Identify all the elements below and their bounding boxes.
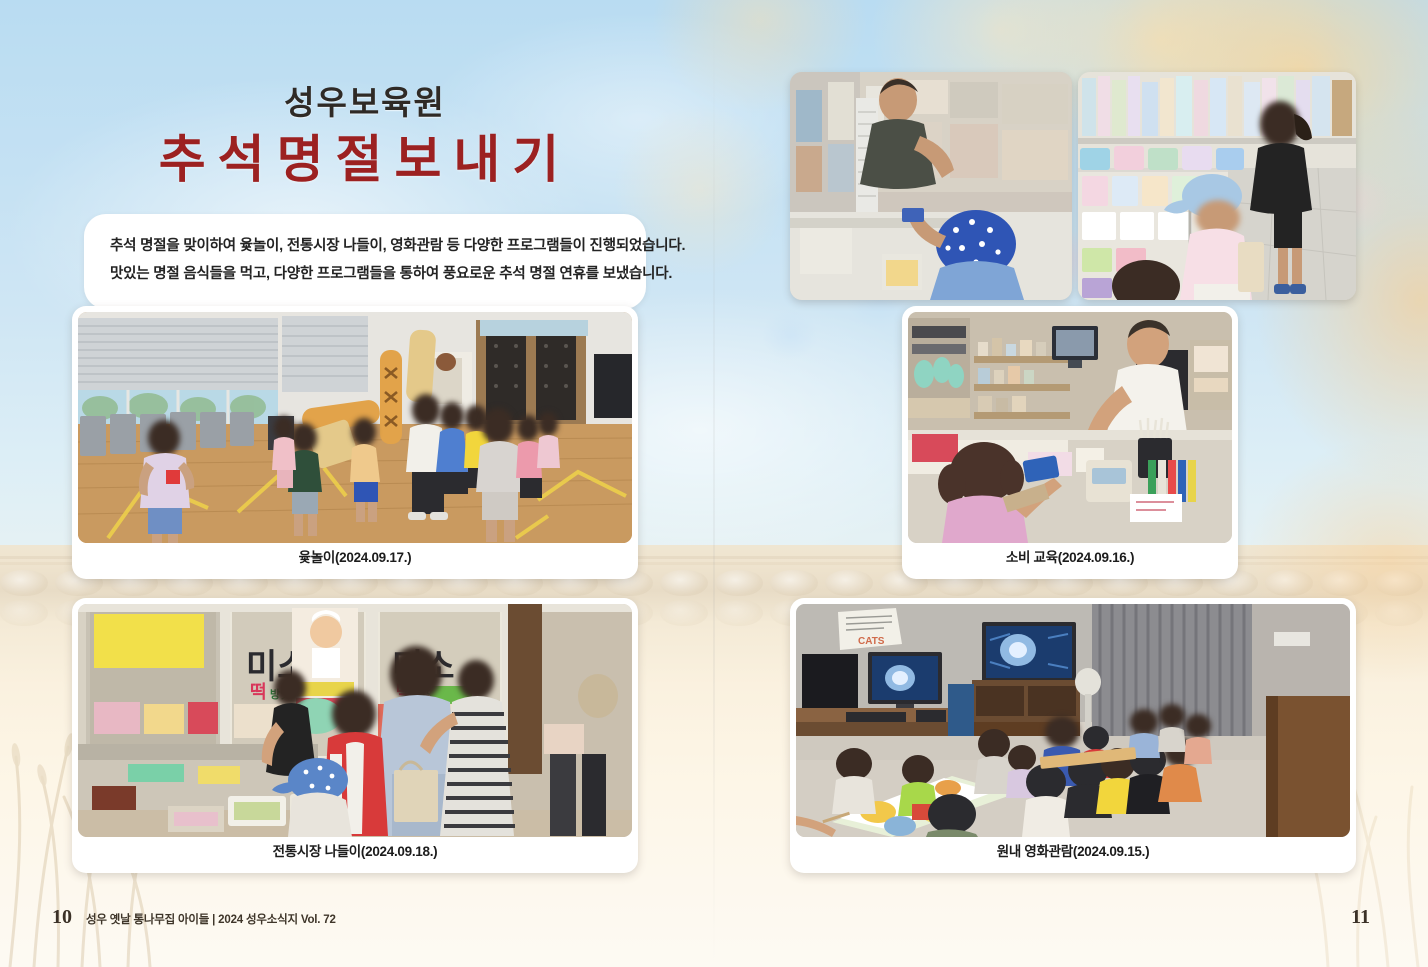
photo-stationery-shop[interactable] (1078, 72, 1356, 300)
photo-card-market-trip[interactable]: 미소 미소 떡 떡 방앗간 방앗간 (72, 598, 638, 873)
description-line-2: 맛있는 명절 음식들을 먹고, 다양한 프로그램들을 통하여 풍요로운 추석 명… (110, 260, 620, 288)
page-number-left: 10 (52, 906, 72, 929)
photo-card-yutnori[interactable]: 윷놀이(2024.09.17.) (72, 306, 638, 579)
photo-caption-consumer-education: 소비 교육(2024.09.16.) (908, 543, 1232, 573)
description-line-1: 추석 명절을 맞이하여 윷놀이, 전통시장 나들이, 영화관람 등 다양한 프로… (110, 232, 620, 260)
photo-market-cashier[interactable] (790, 72, 1072, 300)
magazine-spread: 성우보육원 추석명절보내기 추석 명절을 맞이하여 윷놀이, 전통시장 나들이,… (0, 0, 1428, 967)
photo-card-movie-viewing[interactable]: CATS (790, 598, 1356, 873)
page-title: 추석명절보내기 (80, 132, 650, 191)
page-header: 성우보육원 추석명절보내기 (80, 86, 650, 191)
footer-left: 10 성우 옛날 통나무집 아이들 | 2024 성우소식지 Vol. 72 (52, 906, 336, 929)
photo-caption-yutnori: 윷놀이(2024.09.17.) (78, 543, 632, 573)
photo-stationery-shop-image (1078, 72, 1356, 300)
photo-consumer-education-image (908, 312, 1232, 543)
photo-market-trip-image: 미소 미소 떡 떡 방앗간 방앗간 (78, 604, 632, 837)
photo-movie-viewing-image: CATS (796, 604, 1350, 837)
svg-text:CATS: CATS (858, 636, 885, 647)
footer-publication-text: 성우 옛날 통나무집 아이들 | 2024 성우소식지 Vol. 72 (86, 911, 336, 927)
photo-caption-movie-viewing: 원내 영화관람(2024.09.15.) (796, 837, 1350, 867)
svg-text:떡: 떡 (250, 682, 267, 702)
organization-name: 성우보육원 (80, 86, 650, 124)
photo-caption-market-trip: 전통시장 나들이(2024.09.18.) (78, 837, 632, 867)
photo-yutnori-image (78, 312, 632, 543)
page-number-right: 11 (1351, 906, 1370, 929)
photo-market-cashier-image (790, 72, 1072, 300)
photo-card-consumer-education[interactable]: 소비 교육(2024.09.16.) (902, 306, 1238, 579)
description-box: 추석 명절을 맞이하여 윷놀이, 전통시장 나들이, 영화관람 등 다양한 프로… (84, 214, 646, 309)
